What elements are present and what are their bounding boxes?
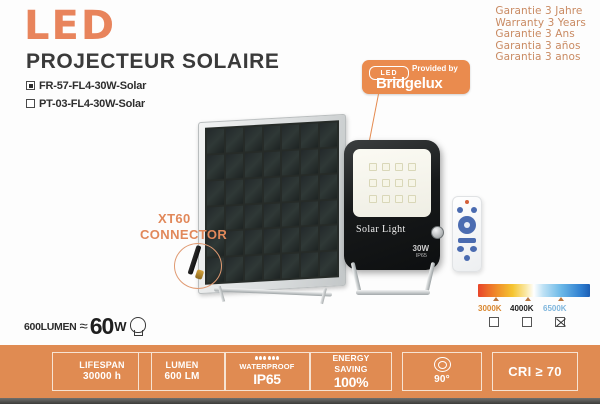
wattage-unit: W	[114, 319, 126, 334]
feature-value: IP65	[253, 372, 281, 387]
cct-labels: 3000K 4000K 6500K	[478, 304, 590, 315]
cct-gradient-bar	[478, 284, 590, 297]
approx-symbol: ≈	[79, 318, 87, 335]
warranty-line-pt: Garantia 3 anos	[495, 52, 586, 64]
lumen-equivalence: 600LUMEN ≈ 60 W	[24, 313, 146, 340]
cct-checkbox-3000k[interactable]	[489, 317, 499, 327]
cct-label-6500k: 6500K	[543, 304, 567, 313]
feature-value: 90°	[434, 374, 450, 386]
xt60-callout-line-2: CONNECTOR	[140, 227, 227, 242]
feature-value: 100%	[334, 375, 369, 390]
feature-value: CRI ≥ 70	[508, 364, 562, 379]
remote-button	[464, 255, 470, 261]
led-chip-grid	[366, 159, 418, 207]
feature-label: LIFESPAN	[79, 360, 124, 371]
remote-button	[470, 246, 477, 252]
cct-checkboxes	[478, 317, 590, 330]
cct-marker-6500k	[558, 297, 564, 301]
bottom-edge-strip	[0, 398, 600, 404]
checkbox-icon-model-1[interactable]	[26, 81, 35, 90]
remote-power-icon	[465, 200, 469, 204]
badge-brand-name: Bridgelux	[376, 75, 442, 92]
feature-bar: LIFESPAN 30000 h LUMEN 600 LM WATERPROOF…	[0, 345, 600, 398]
floodlight-body: Solar Light 30W IP65	[344, 140, 440, 270]
floodlight-tilt-knob	[431, 226, 444, 239]
model-selection-list: FR-57-FL4-30W-Solar PT-03-FL4-30W-Solar	[26, 78, 146, 114]
model-label: FR-57-FL4-30W-Solar	[39, 80, 146, 92]
warranty-line-de: Garantie 3 Jahre	[495, 6, 586, 18]
model-option-row[interactable]: PT-03-FL4-30W-Solar	[26, 96, 146, 111]
led-brand-logo: LED	[24, 6, 116, 46]
beam-angle-icon	[434, 357, 451, 372]
floodlight-face-label: Solar Light	[356, 224, 406, 235]
cct-marker-3000k	[493, 297, 499, 301]
remote-button	[457, 246, 464, 252]
remote-button	[457, 207, 463, 213]
warranty-block: Garantie 3 Jahre Warranty 3 Years Garant…	[495, 6, 586, 64]
feature-label: LUMEN	[166, 360, 199, 371]
bracket-arm	[425, 262, 436, 292]
floodlight-wattage: 30W	[413, 244, 429, 253]
remote-control-image	[452, 196, 482, 272]
feature-energy-saving: ENERGY SAVING 100%	[310, 352, 392, 391]
feature-value: 30000 h	[83, 371, 121, 383]
stand-bar	[214, 287, 332, 296]
remote-button	[458, 238, 476, 243]
lumen-value: 600LUMEN	[24, 321, 76, 333]
product-label-page: LED PROJECTEUR SOLAIRE FR-57-FL4-30W-Sol…	[0, 0, 600, 404]
color-temperature-selector: 3000K 4000K 6500K	[478, 284, 590, 330]
checkbox-icon-model-2[interactable]	[26, 99, 35, 108]
badge-provided-by: Provided by	[412, 64, 458, 73]
model-label: PT-03-FL4-30W-Solar	[39, 98, 145, 110]
feature-label: ENERGY	[332, 353, 369, 364]
cct-checkbox-6500k[interactable]	[555, 317, 565, 327]
floodlight-ingress-rating: IP65	[416, 253, 427, 259]
feature-lumen: LUMEN 600 LM	[138, 352, 226, 391]
cct-label-4000k: 4000K	[510, 304, 534, 313]
feature-value: 600 LM	[164, 371, 199, 383]
solar-panel-stand	[214, 284, 334, 304]
cct-marker-4000k	[525, 297, 531, 301]
light-bulb-icon	[128, 317, 146, 337]
xt60-callout-line-1: XT60	[158, 211, 191, 226]
cct-label-3000k: 3000K	[478, 304, 502, 313]
cct-markers	[478, 297, 590, 304]
bracket-arm	[351, 262, 362, 292]
feature-beam-angle: 90°	[402, 352, 482, 391]
feature-lifespan: LIFESPAN 30000 h	[52, 352, 152, 391]
bracket-base	[356, 290, 430, 295]
floodlight-bracket	[352, 262, 436, 298]
feature-cri: CRI ≥ 70	[492, 352, 578, 391]
feature-waterproof: WATERPROOF IP65	[224, 352, 310, 391]
remote-dpad	[458, 216, 476, 234]
bridgelux-badge: LED Provided by Bridgelux	[362, 60, 470, 94]
page-title: PROJECTEUR SOLAIRE	[26, 50, 280, 74]
equivalent-wattage: 60	[90, 313, 114, 340]
remote-button	[471, 207, 477, 213]
solar-cell-grid	[205, 120, 339, 284]
cct-checkbox-4000k[interactable]	[522, 317, 532, 327]
floodlight-lens	[353, 149, 431, 217]
water-drop-icon	[255, 356, 279, 360]
model-option-row[interactable]: FR-57-FL4-30W-Solar	[26, 78, 146, 93]
